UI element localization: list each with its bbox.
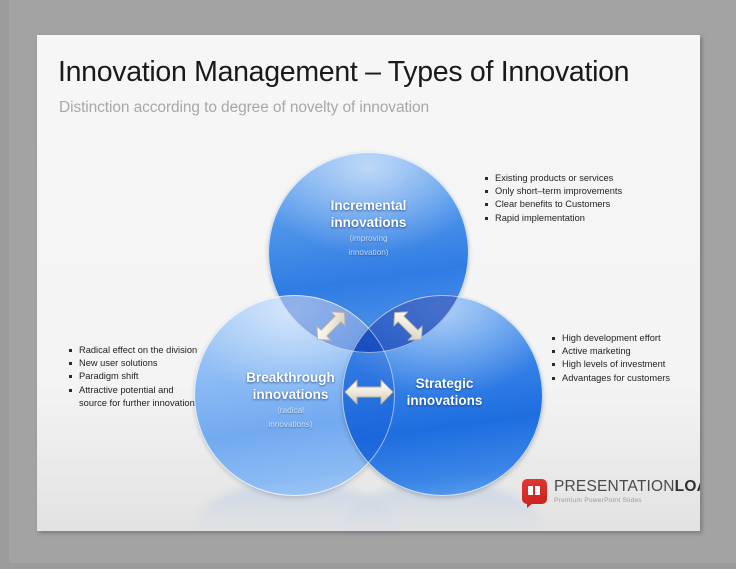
list-item: Active marketing — [551, 345, 670, 358]
outer-frame: Innovation Management – Types of Innovat… — [0, 0, 736, 569]
list-item: Only short–term improvements — [484, 185, 622, 198]
slide-canvas: Innovation Management – Types of Innovat… — [37, 35, 700, 531]
presentationload-logo[interactable]: PRESENTATIONLOAD® Premium PowerPoint Sli… — [522, 479, 700, 504]
bullet-list: Existing products or services Only short… — [484, 172, 622, 225]
list-item: Radical effect on the division — [68, 344, 197, 357]
frame-edge-left — [0, 0, 9, 569]
speech-bubble-inner — [528, 486, 540, 495]
double-arrow-horizontal-icon — [342, 375, 396, 414]
list-item: High levels of investment — [551, 358, 670, 371]
list-item: Paradigm shift — [68, 370, 197, 383]
list-item-continuation: source for further innovation — [68, 397, 197, 410]
bullet-list-strategic: High development effort Active marketing… — [551, 332, 670, 385]
list-item: Attractive potential and — [68, 384, 197, 397]
frame-edge-bottom — [0, 563, 736, 569]
list-item: New user solutions — [68, 357, 197, 370]
list-item: Clear benefits to Customers — [484, 198, 622, 211]
bullet-list: High development effort Active marketing… — [551, 332, 670, 385]
logo-tagline: Premium PowerPoint Slides — [554, 498, 700, 505]
list-item: Advantages for customers — [551, 372, 670, 385]
speech-bubble-icon — [522, 479, 547, 504]
logo-text-block: PRESENTATIONLOAD® Premium PowerPoint Sli… — [554, 479, 700, 504]
bullet-list-breakthrough: Radical effect on the division New user … — [68, 344, 197, 410]
logo-word-bold: LOAD — [675, 478, 700, 495]
list-item: Existing products or services — [484, 172, 622, 185]
double-arrow-diagonal-icon — [383, 301, 433, 356]
logo-word-thin: PRESENTATION — [554, 478, 675, 495]
list-item: Rapid implementation — [484, 212, 622, 225]
slide-subtitle: Distinction according to degree of novel… — [59, 99, 429, 117]
slide-title: Innovation Management – Types of Innovat… — [58, 56, 629, 89]
double-arrow-diagonal-icon — [306, 301, 356, 356]
logo-wordmark: PRESENTATIONLOAD® — [554, 479, 700, 495]
bullet-list-incremental: Existing products or services Only short… — [484, 172, 622, 225]
bullet-list: Radical effect on the division New user … — [68, 344, 197, 410]
list-item: High development effort — [551, 332, 670, 345]
speech-bubble-tail — [527, 503, 533, 508]
